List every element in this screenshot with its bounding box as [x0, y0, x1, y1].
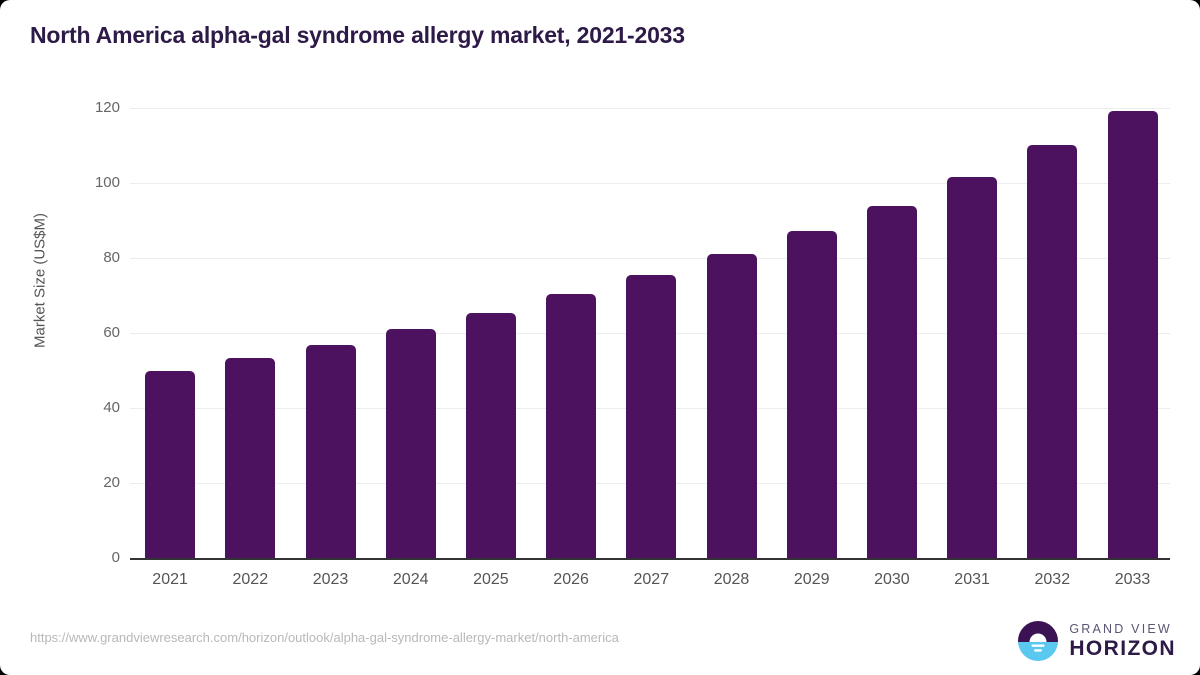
- y-tick-label: 80: [56, 249, 120, 266]
- x-tick-label: 2032: [1012, 571, 1092, 589]
- y-tick-label: 40: [56, 399, 120, 416]
- bar[interactable]: [546, 294, 596, 558]
- x-tick-label: 2023: [291, 571, 371, 589]
- plot-area: Market Size (US$M) 020406080100120 20212…: [0, 0, 1200, 675]
- y-tick-label: 20: [56, 474, 120, 491]
- logo-wordmark: GRAND VIEW HORIZON: [1069, 623, 1176, 660]
- x-tick-label: 2033: [1093, 571, 1173, 589]
- x-axis-line: [130, 558, 1170, 560]
- bar[interactable]: [145, 371, 195, 558]
- x-tick-label: 2021: [130, 571, 210, 589]
- x-tick-label: 2027: [611, 571, 691, 589]
- horizon-logo-icon: [1017, 620, 1059, 662]
- bar[interactable]: [787, 231, 837, 558]
- bar[interactable]: [1027, 145, 1077, 558]
- x-tick-label: 2030: [852, 571, 932, 589]
- logo-line-1: GRAND VIEW: [1069, 623, 1176, 636]
- gridline: [130, 258, 1170, 259]
- logo-line-2: HORIZON: [1069, 638, 1176, 659]
- y-tick-label: 100: [56, 174, 120, 191]
- chart-card: North America alpha-gal syndrome allergy…: [0, 0, 1200, 675]
- bar[interactable]: [1108, 111, 1158, 558]
- y-tick-label: 120: [56, 99, 120, 116]
- y-tick-label: 0: [56, 549, 120, 566]
- gridline: [130, 183, 1170, 184]
- y-tick-label: 60: [56, 324, 120, 341]
- x-tick-label: 2031: [932, 571, 1012, 589]
- bar[interactable]: [707, 254, 757, 558]
- gridline: [130, 108, 1170, 109]
- bar[interactable]: [867, 206, 917, 559]
- bar[interactable]: [306, 345, 356, 558]
- brand-logo: GRAND VIEW HORIZON: [1017, 620, 1176, 662]
- x-tick-label: 2024: [371, 571, 451, 589]
- x-tick-label: 2026: [531, 571, 611, 589]
- x-tick-label: 2028: [692, 571, 772, 589]
- x-tick-label: 2025: [451, 571, 531, 589]
- bar[interactable]: [626, 275, 676, 558]
- x-tick-label: 2022: [210, 571, 290, 589]
- bar[interactable]: [466, 313, 516, 558]
- x-tick-label: 2029: [772, 571, 852, 589]
- y-axis-title: Market Size (US$M): [32, 181, 49, 381]
- bar[interactable]: [386, 329, 436, 558]
- bar[interactable]: [225, 358, 275, 558]
- source-url[interactable]: https://www.grandviewresearch.com/horizo…: [30, 630, 619, 645]
- bar[interactable]: [947, 177, 997, 558]
